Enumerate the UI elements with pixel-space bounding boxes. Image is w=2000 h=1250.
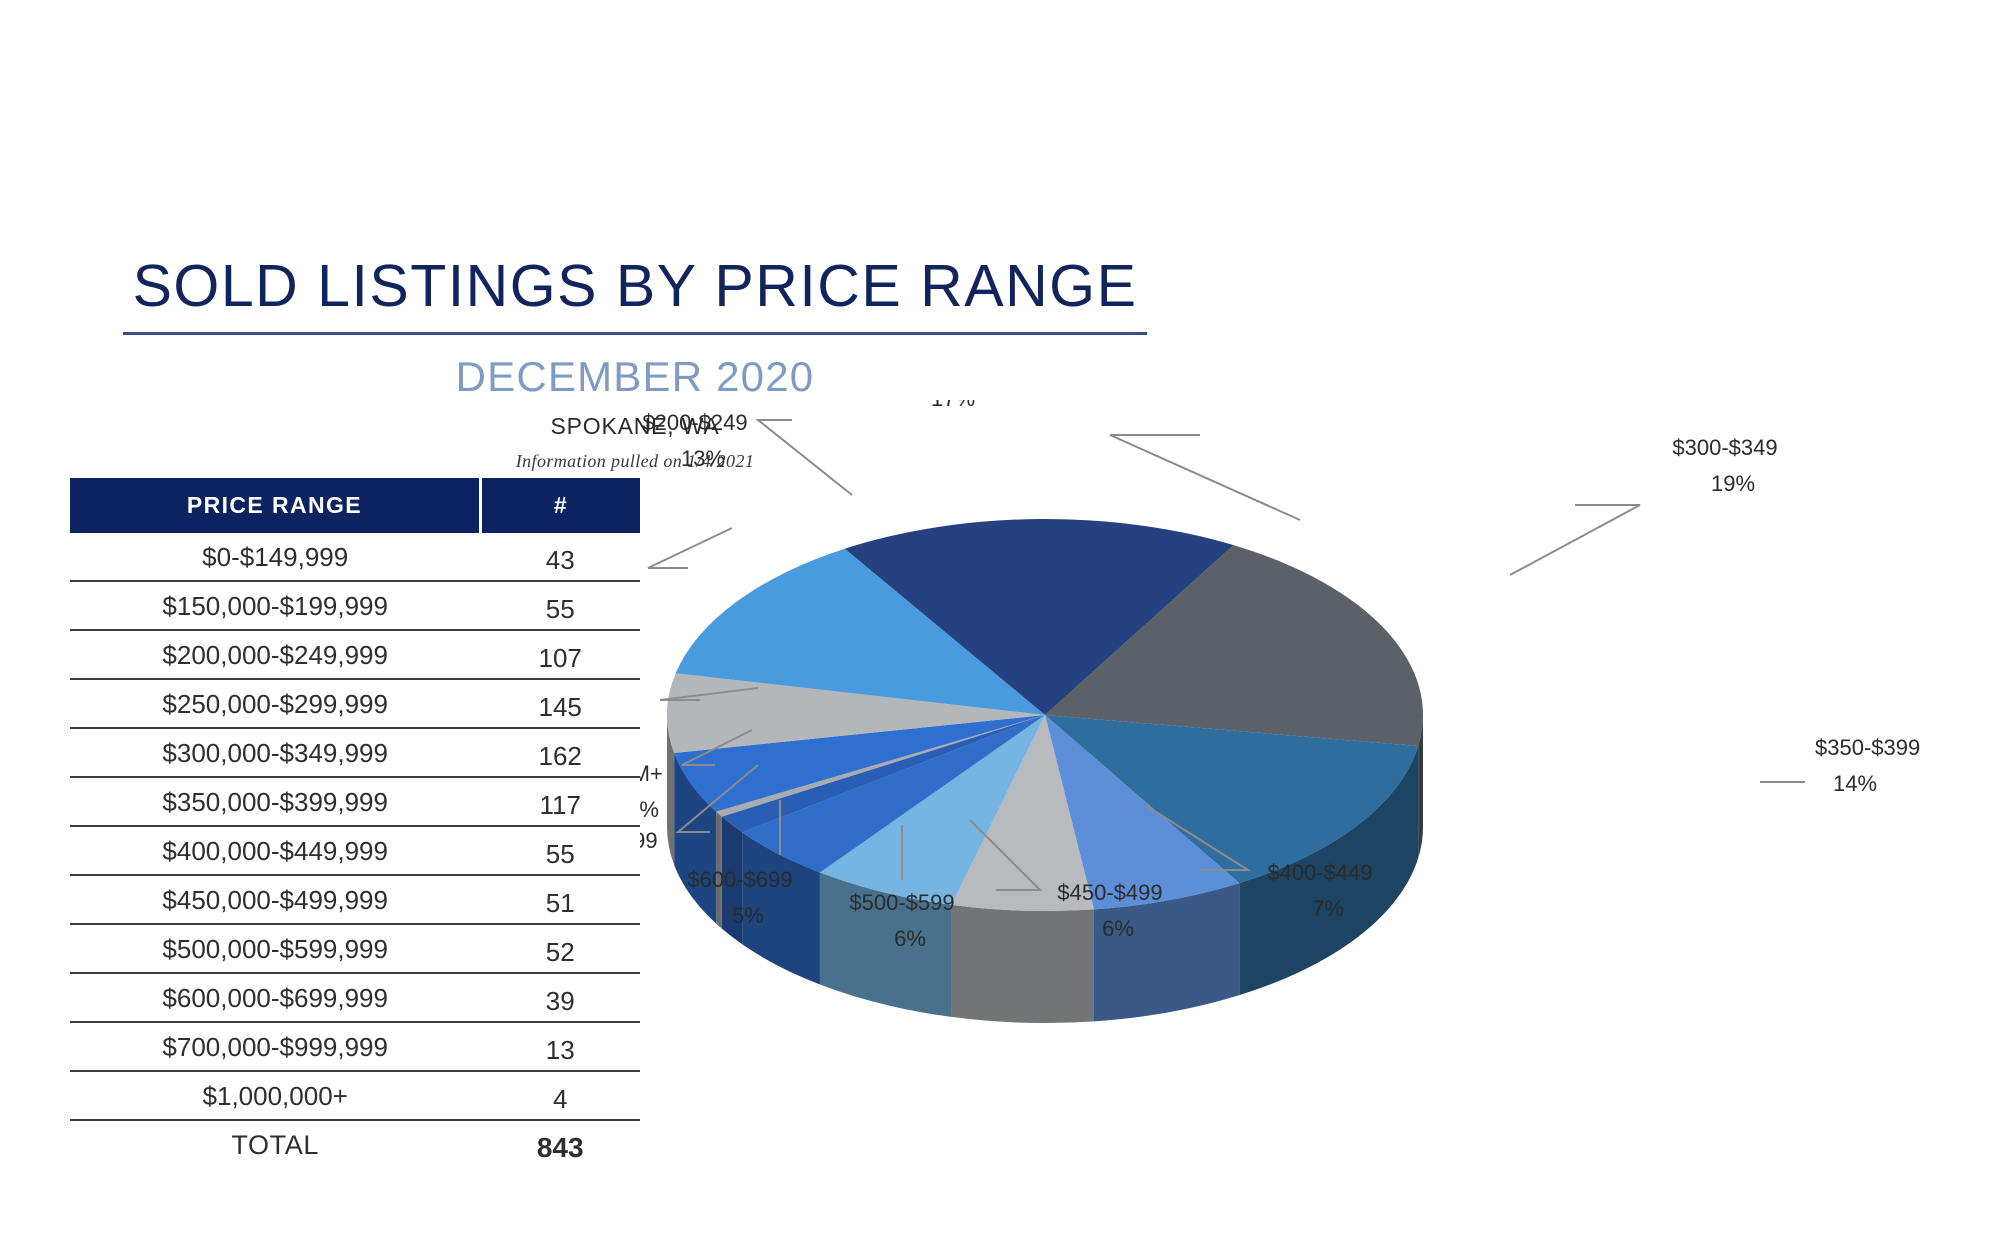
- callout-label: $350-$399: [1815, 735, 1920, 760]
- cell-price-range: $1,000,000+: [70, 1071, 480, 1120]
- callout-label: $400-$449: [1267, 860, 1372, 885]
- callout-percent: 5%: [732, 903, 764, 928]
- cell-count: 4: [480, 1071, 640, 1120]
- table-row: $150,000-$199,99955: [70, 581, 640, 630]
- table-row: $0-$149,99943: [70, 533, 640, 581]
- callout-percent: 6%: [894, 926, 926, 951]
- cell-total-count: 843: [480, 1120, 640, 1168]
- callout-label: $1M+: [640, 761, 663, 786]
- cell-price-range: $200,000-$249,999: [70, 630, 480, 679]
- table-row: $600,000-$699,99939: [70, 973, 640, 1022]
- column-header-price-range: PRICE RANGE: [70, 478, 480, 533]
- cell-count: 39: [480, 973, 640, 1022]
- page-subtitle: DECEMBER 2020: [0, 353, 1270, 401]
- cell-price-range: $500,000-$599,999: [70, 924, 480, 973]
- leader-line: [648, 528, 732, 568]
- callout-label: $600-$699: [687, 867, 792, 892]
- table-row: $700,000-$999,99913: [70, 1022, 640, 1071]
- cell-price-range: $450,000-$499,999: [70, 875, 480, 924]
- cell-count: 13: [480, 1022, 640, 1071]
- callout-200-249: $200-$24913%: [642, 410, 747, 471]
- cell-count: 51: [480, 875, 640, 924]
- table-row: $450,000-$499,99951: [70, 875, 640, 924]
- table-row: $1,000,000+4: [70, 1071, 640, 1120]
- cell-price-range: $350,000-$399,999: [70, 777, 480, 826]
- cell-count: 55: [480, 581, 640, 630]
- pie-chart-svg: $250-$29917%$300-$34919%$350-$39914%$400…: [640, 400, 2000, 1250]
- leader-line: [1110, 435, 1300, 520]
- callout-percent: 14%: [1833, 771, 1877, 796]
- callout-350-399: $350-$39914%: [1815, 735, 1920, 796]
- callout-percent: 0%: [640, 797, 659, 822]
- table-row: $400,000-$449,99955: [70, 826, 640, 875]
- column-header-count: #: [480, 478, 640, 533]
- table-row: $200,000-$249,999107: [70, 630, 640, 679]
- callout-700-999: $700-$9992%: [640, 828, 658, 889]
- table-row: $350,000-$399,999117: [70, 777, 640, 826]
- cell-total-label: TOTAL: [70, 1120, 480, 1168]
- callout-percent: 19%: [1711, 471, 1755, 496]
- pie-slice-side: [951, 905, 1094, 1023]
- cell-price-range: $600,000-$699,999: [70, 973, 480, 1022]
- cell-count: 162: [480, 728, 640, 777]
- callout-percent: 13%: [681, 446, 725, 471]
- cell-count: 107: [480, 630, 640, 679]
- leader-line: [1510, 505, 1640, 575]
- callout-percent: 7%: [1312, 896, 1344, 921]
- infographic-root: SOLD LISTINGS BY PRICE RANGE DECEMBER 20…: [0, 0, 2000, 1250]
- table-body: $0-$149,99943$150,000-$199,99955$200,000…: [70, 533, 640, 1168]
- cell-price-range: $700,000-$999,999: [70, 1022, 480, 1071]
- cell-count: 145: [480, 679, 640, 728]
- cell-price-range: $300,000-$349,999: [70, 728, 480, 777]
- price-range-table: PRICE RANGE # $0-$149,99943$150,000-$199…: [70, 478, 640, 1168]
- table-row: $500,000-$599,99952: [70, 924, 640, 973]
- callout-label: $500-$599: [849, 890, 954, 915]
- callout-percent: 17%: [931, 400, 975, 411]
- table-row: $300,000-$349,999162: [70, 728, 640, 777]
- cell-count: 43: [480, 533, 640, 581]
- cell-count: 55: [480, 826, 640, 875]
- callout-250-299: $250-$29917%: [892, 400, 997, 411]
- cell-count: 52: [480, 924, 640, 973]
- callout-label: $200-$249: [642, 410, 747, 435]
- cell-price-range: $400,000-$449,999: [70, 826, 480, 875]
- table-total-row: TOTAL843: [70, 1120, 640, 1168]
- cell-price-range: $250,000-$299,999: [70, 679, 480, 728]
- callout-1m-plus: $1M+0%: [640, 761, 663, 822]
- callout-300-349: $300-$34919%: [1672, 435, 1777, 496]
- leader-line: [758, 420, 852, 495]
- cell-price-range: $150,000-$199,999: [70, 581, 480, 630]
- pie-chart: $250-$29917%$300-$34919%$350-$39914%$400…: [640, 400, 2000, 1250]
- cell-count: 117: [480, 777, 640, 826]
- callout-percent: 6%: [1102, 916, 1134, 941]
- callout-label: $300-$349: [1672, 435, 1777, 460]
- callout-label: $700-$999: [640, 828, 658, 853]
- table-header-row: PRICE RANGE #: [70, 478, 640, 533]
- page-title: SOLD LISTINGS BY PRICE RANGE: [123, 252, 1148, 335]
- table-row: $250,000-$299,999145: [70, 679, 640, 728]
- callout-label: $450-$499: [1057, 880, 1162, 905]
- cell-price-range: $0-$149,999: [70, 533, 480, 581]
